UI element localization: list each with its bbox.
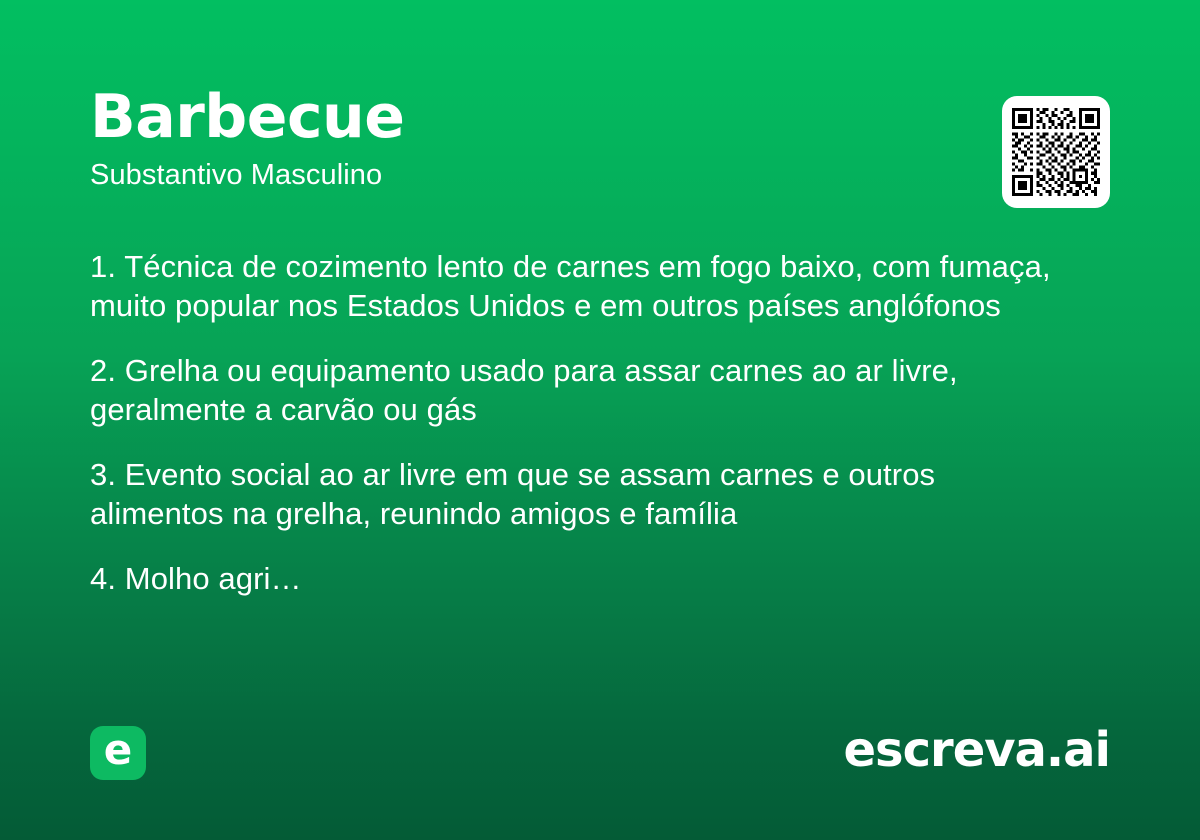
logo-letter: e: [104, 729, 133, 771]
definition-item-4: 4. Molho agri…: [90, 560, 1075, 599]
brand-name: escreva.ai: [843, 724, 1110, 777]
escreva-logo-icon: e: [90, 726, 146, 780]
qr-code-panel[interactable]: [1002, 96, 1110, 208]
word-class-label: Substantivo Masculino: [90, 158, 1110, 193]
page-title: Barbecue: [90, 86, 1110, 148]
qr-code-icon: [1012, 108, 1100, 196]
definition-item-3: 3. Evento social ao ar livre em que se a…: [90, 456, 1075, 533]
card-header: Barbecue Substantivo Masculino: [90, 86, 1110, 193]
definition-item-2: 2. Grelha ou equipamento usado para assa…: [90, 352, 1075, 429]
definition-item-1: 1. Técnica de cozimento lento de carnes …: [90, 248, 1075, 325]
card-footer: e escreva.ai: [90, 724, 1110, 782]
definitions-list: 1. Técnica de cozimento lento de carnes …: [90, 248, 1075, 599]
dictionary-card: Barbecue Substantivo Masculino: [0, 0, 1200, 840]
